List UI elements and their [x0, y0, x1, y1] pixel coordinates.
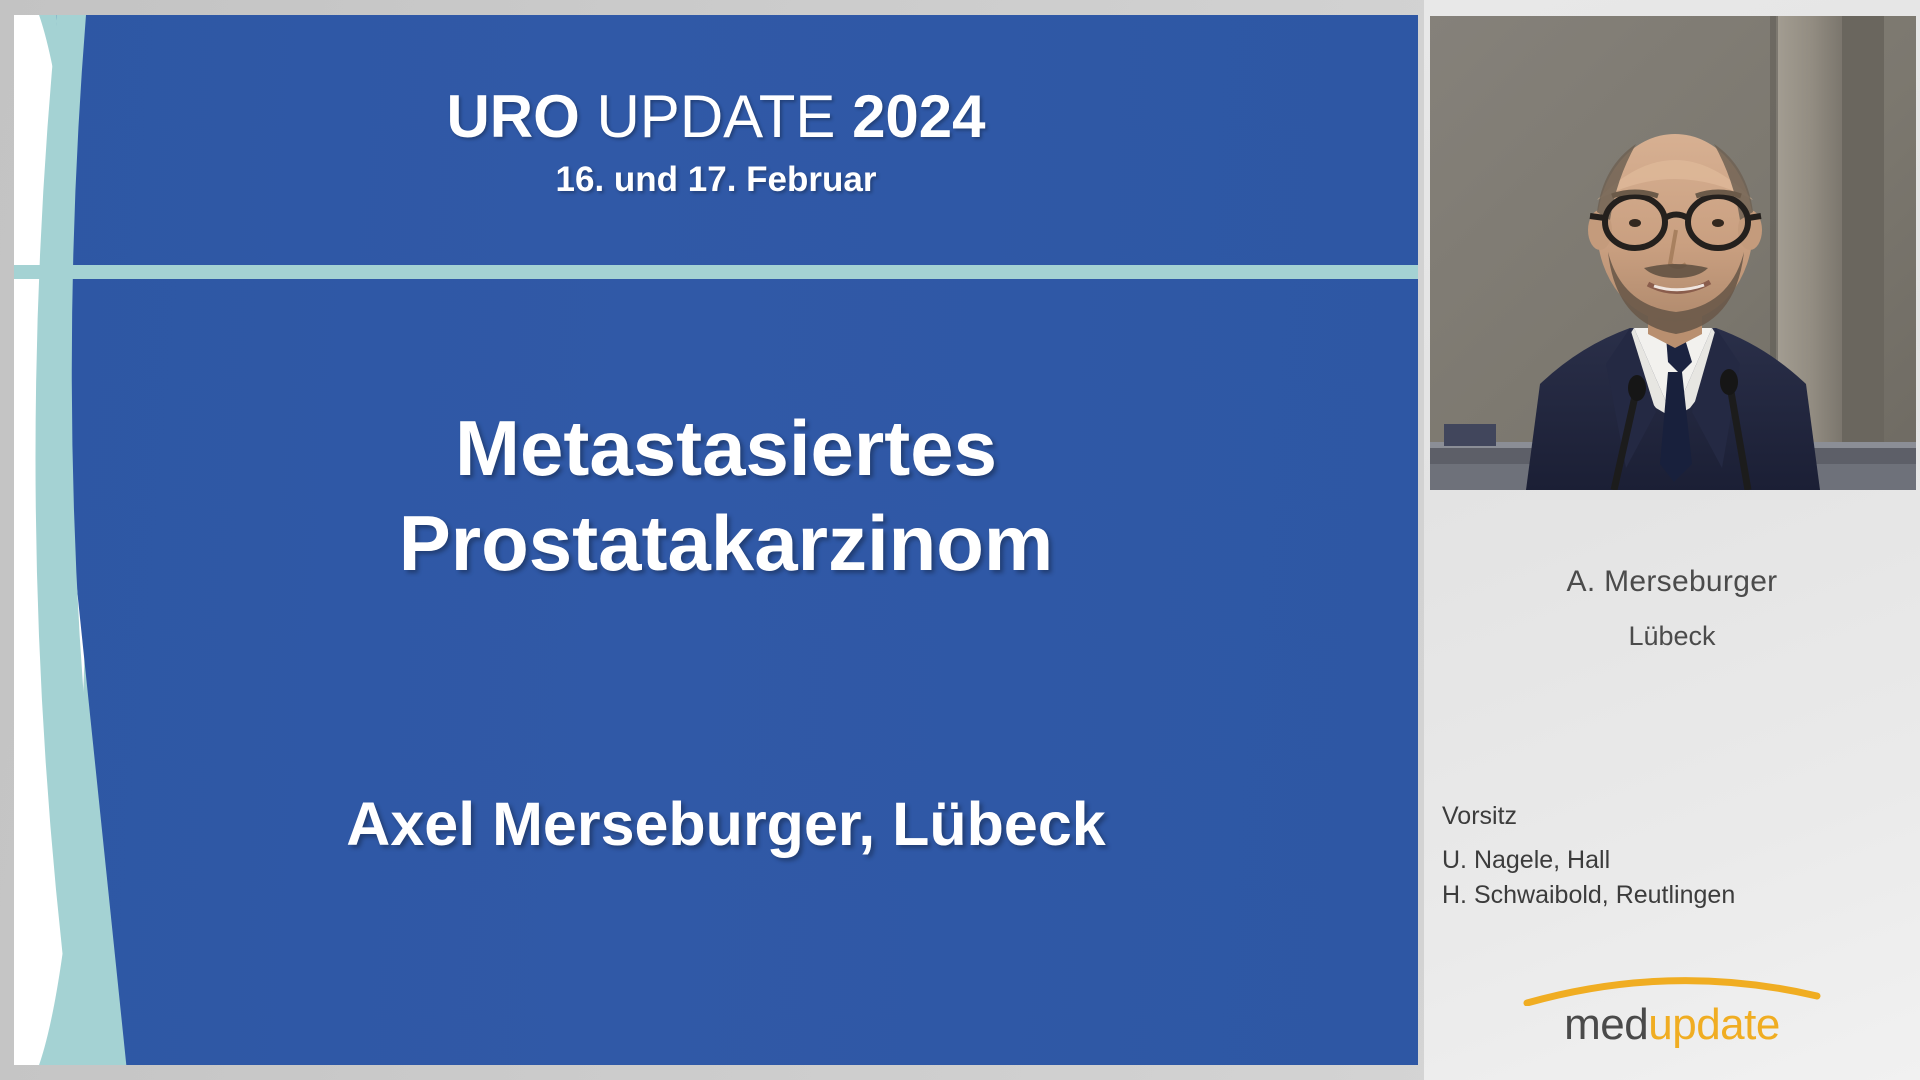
logo-word-med: med	[1564, 1000, 1648, 1049]
chair-block: Vorsitz U. Nagele, Hall H. Schwaibold, R…	[1442, 802, 1912, 912]
chair-person-2: H. Schwaibold, Reutlingen	[1442, 878, 1912, 913]
slide-speaker-name: Axel Merseburger, Lübeck	[346, 789, 1105, 859]
event-title-part-uro: URO	[446, 83, 579, 150]
screen-root: URO UPDATE 2024 16. und 17. Februar Meta…	[0, 0, 1920, 1080]
event-dates: 16. und 17. Februar	[556, 160, 877, 200]
medupdate-logo[interactable]: medupdate	[1424, 964, 1920, 1056]
info-sidebar: A. Merseburger Lübeck Vorsitz U. Nagele,…	[1424, 0, 1920, 1080]
slide-body-text: Metastasiertes Prostatakarzinom Axel Mer…	[14, 279, 1418, 1065]
event-title-part-year: 2024	[852, 83, 985, 150]
logo-word-update: update	[1648, 1000, 1780, 1049]
slide-divider	[14, 265, 1418, 279]
talk-title-line-1: Metastasiertes	[399, 401, 1054, 496]
event-title: URO UPDATE 2024	[446, 86, 985, 147]
presentation-slide[interactable]: URO UPDATE 2024 16. und 17. Februar Meta…	[14, 15, 1418, 1065]
speaker-meta-block: A. Merseburger Lübeck	[1424, 565, 1920, 652]
chair-person-1: U. Nagele, Hall	[1442, 843, 1912, 878]
sidebar-speaker-name: A. Merseburger	[1424, 565, 1920, 599]
speaker-video-thumbnail[interactable]	[1430, 16, 1916, 490]
event-title-part-update: UPDATE	[596, 83, 835, 150]
talk-title-line-2: Prostatakarzinom	[399, 496, 1054, 591]
logo-wordmark: medupdate	[1521, 1000, 1823, 1050]
slide-header-text: URO UPDATE 2024 16. und 17. Februar	[14, 15, 1418, 265]
sidebar-speaker-city: Lübeck	[1424, 621, 1920, 652]
speaker-photo	[1430, 16, 1916, 490]
chair-label: Vorsitz	[1442, 802, 1912, 831]
talk-title: Metastasiertes Prostatakarzinom	[399, 401, 1054, 591]
